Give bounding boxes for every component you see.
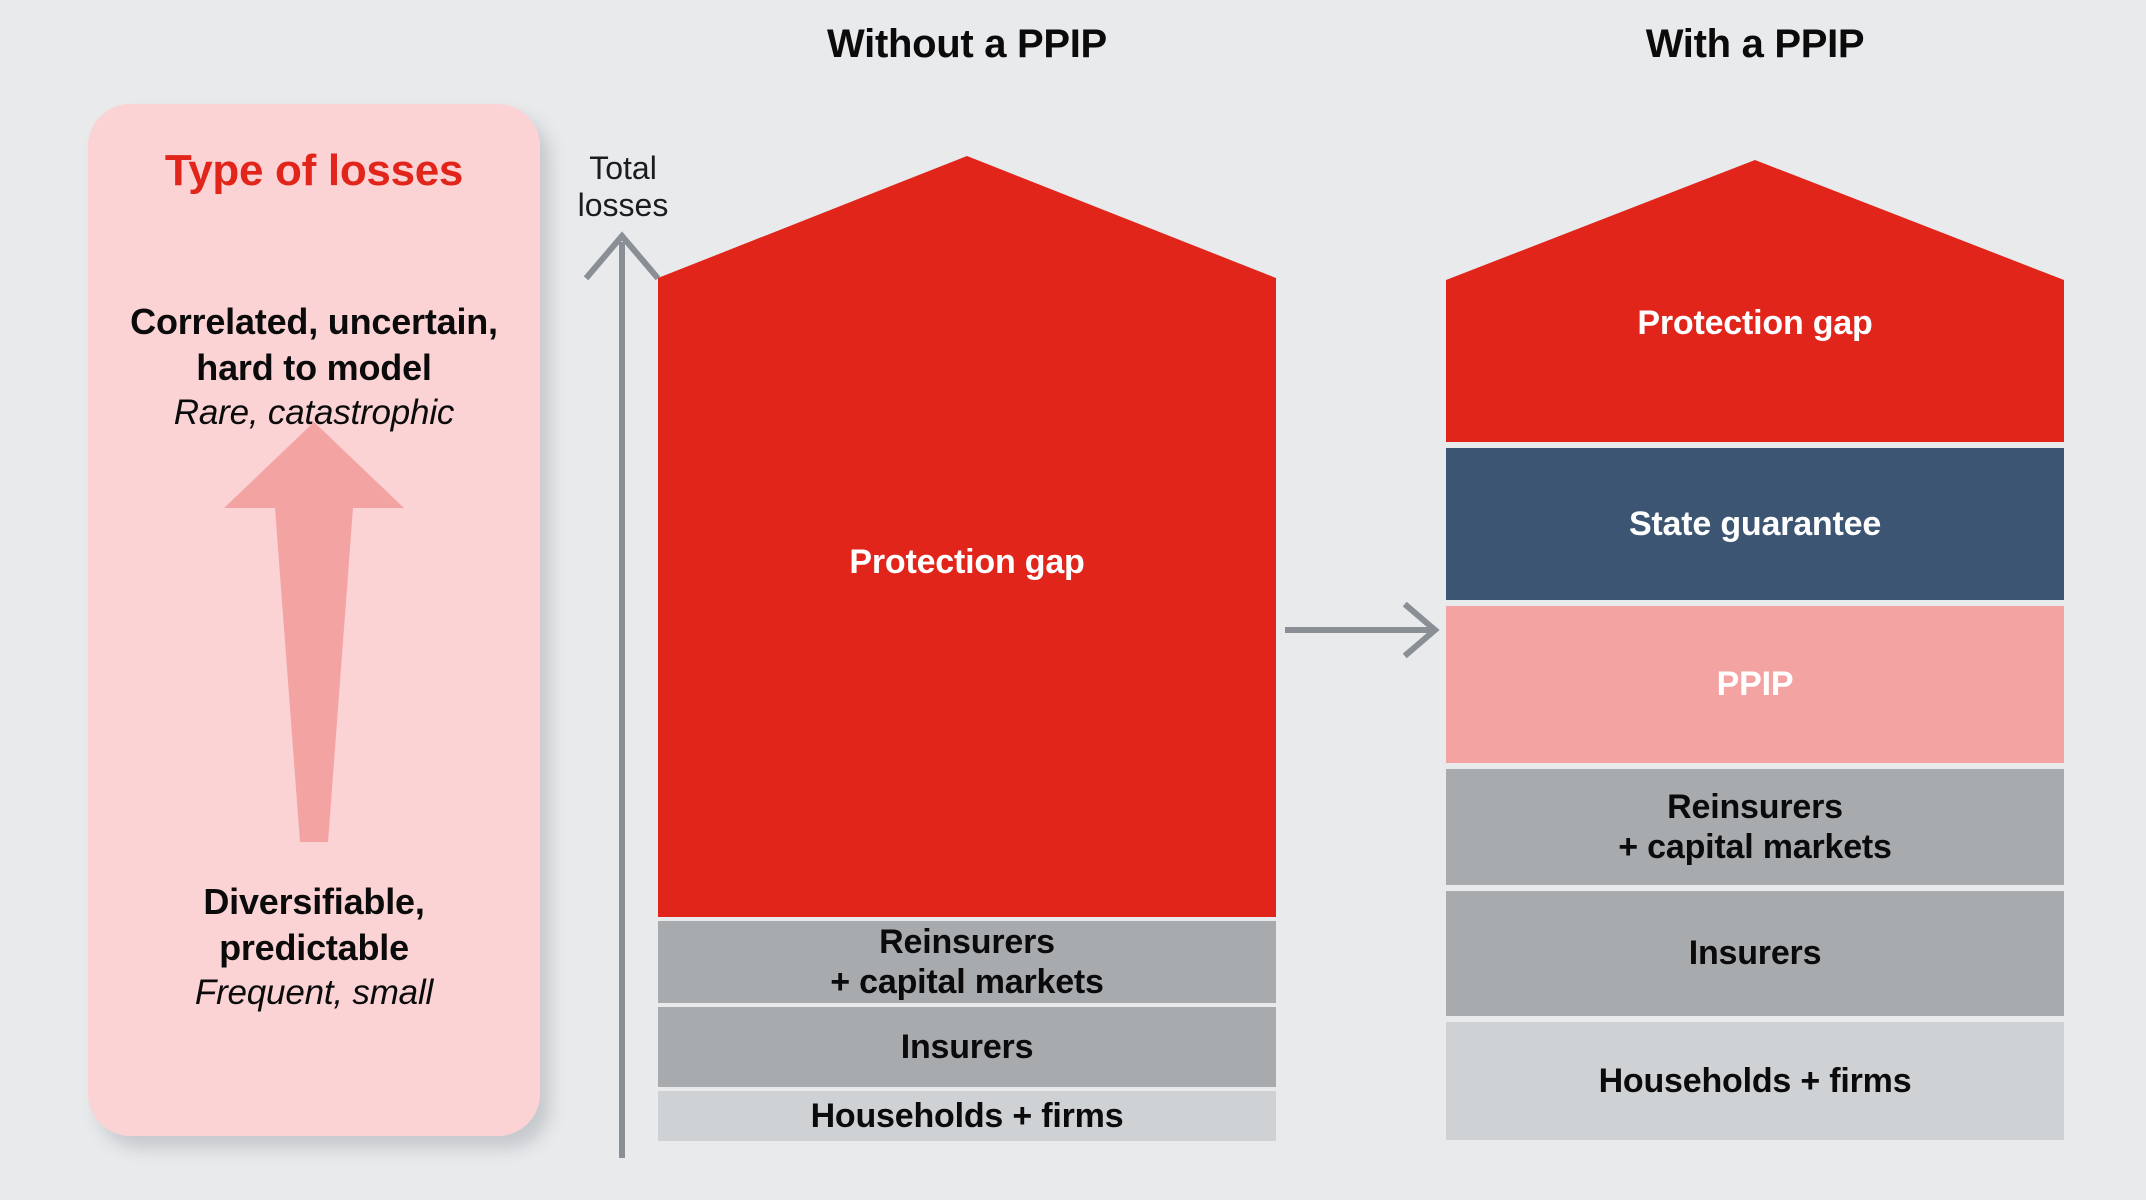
band-label: Insurers: [1689, 933, 1822, 973]
pentagon-shape: [1446, 160, 2064, 442]
low-severity-text-block: Diversifiable, predictable Frequent, sma…: [88, 879, 540, 1016]
upward-tapered-arrow-icon: [224, 422, 404, 842]
type-of-losses-card: Type of losses Correlated, uncertain, ha…: [88, 104, 540, 1136]
band-state-guarantee-right[interactable]: State guarantee: [1446, 448, 2064, 600]
low-severity-italic-text: Frequent, small: [88, 971, 540, 1016]
band-label: Reinsurers + capital markets: [830, 922, 1103, 1002]
band-label: Protection gap: [849, 542, 1084, 582]
band-label: Protection gap: [1637, 303, 1872, 343]
band-insurers-right[interactable]: Insurers: [1446, 891, 2064, 1016]
band-reinsurers-right[interactable]: Reinsurers + capital markets: [1446, 769, 2064, 885]
band-label: Households + firms: [1599, 1061, 1912, 1101]
stack-with-ppip: Protection gap State guarantee PPIP Rein…: [1446, 160, 2064, 1140]
diagram-canvas: Type of losses Correlated, uncertain, ha…: [0, 0, 2146, 1200]
band-label: Reinsurers + capital markets: [1618, 787, 1891, 867]
high-severity-strong-text: Correlated, uncertain, hard to model: [88, 299, 540, 391]
band-insurers-left[interactable]: Insurers: [658, 1007, 1276, 1087]
band-households-left[interactable]: Households + firms: [658, 1091, 1276, 1141]
type-of-losses-title: Type of losses: [88, 146, 540, 196]
band-households-right[interactable]: Households + firms: [1446, 1022, 2064, 1140]
pentagon-shape: [658, 156, 1276, 917]
band-label: Households + firms: [811, 1096, 1124, 1136]
stack-without-ppip: Protection gap Reinsurers + capital mark…: [658, 156, 1276, 1140]
low-severity-strong-text: Diversifiable, predictable: [88, 879, 540, 971]
column-header-without-ppip: Without a PPIP: [658, 22, 1276, 67]
band-label: Insurers: [901, 1027, 1034, 1067]
right-arrow-icon: [1285, 600, 1445, 660]
band-label: PPIP: [1717, 664, 1794, 704]
band-ppip-right[interactable]: PPIP: [1446, 606, 2064, 763]
band-protection-gap-right[interactable]: Protection gap: [1446, 160, 2064, 442]
high-severity-text-block: Correlated, uncertain, hard to model Rar…: [88, 299, 540, 436]
column-header-with-ppip: With a PPIP: [1446, 22, 2064, 67]
band-label: State guarantee: [1629, 504, 1881, 544]
band-reinsurers-left[interactable]: Reinsurers + capital markets: [658, 921, 1276, 1003]
band-protection-gap-left[interactable]: Protection gap: [658, 156, 1276, 917]
